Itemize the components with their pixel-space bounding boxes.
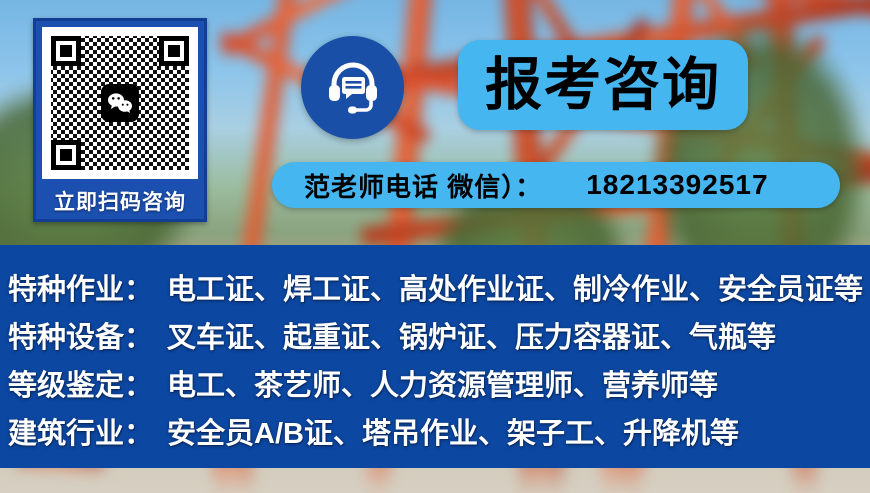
service-category: 建筑行业：: [8, 410, 153, 452]
qr-code-card[interactable]: 立即扫码咨询: [33, 18, 207, 222]
qr-caption: 立即扫码咨询: [42, 179, 198, 223]
title-label: 报考咨询: [485, 57, 721, 114]
service-category: 等级鉴定：: [8, 362, 153, 404]
service-row-special-equipment: 特种设备： 叉车证、起重证、锅炉证、压力容器证、气瓶等: [8, 314, 776, 356]
title-pill: 报考咨询: [458, 40, 748, 130]
service-category: 特种设备：: [8, 314, 153, 356]
qr-finder-bottom-left: [51, 140, 81, 170]
service-row-construction-industry: 建筑行业： 安全员A/B证、塔吊作业、架子工、升降机等: [8, 410, 739, 452]
service-row-grade-certification: 等级鉴定： 电工、茶艺师、人力资源管理师、营养师等: [8, 362, 718, 404]
service-category: 特种作业：: [8, 266, 153, 308]
service-items: 电工证、焊工证、高处作业证、制冷作业、安全员证等: [167, 266, 863, 308]
wechat-icon: [101, 84, 139, 122]
promo-poster: 立即扫码咨询 报考咨询 范老师电话 微信）： 18213392517 特种作业：…: [0, 0, 870, 493]
service-row-special-operations: 特种作业： 电工证、焊工证、高处作业证、制冷作业、安全员证等: [8, 266, 863, 308]
qr-code-image[interactable]: [42, 27, 198, 179]
service-items: 电工、茶艺师、人力资源管理师、营养师等: [167, 362, 718, 404]
qr-finder-top-right: [159, 36, 189, 66]
service-items: 叉车证、起重证、锅炉证、压力容器证、气瓶等: [167, 314, 776, 356]
qr-finder-top-left: [51, 36, 81, 66]
phone-pill[interactable]: 范老师电话 微信）： 18213392517: [272, 162, 840, 208]
phone-label: 范老师电话 微信）：: [304, 167, 542, 204]
headset-support-icon: [301, 36, 404, 139]
qr-matrix: [49, 34, 191, 172]
phone-number[interactable]: 18213392517: [586, 169, 768, 201]
service-items: 安全员A/B证、塔吊作业、架子工、升降机等: [167, 410, 739, 452]
